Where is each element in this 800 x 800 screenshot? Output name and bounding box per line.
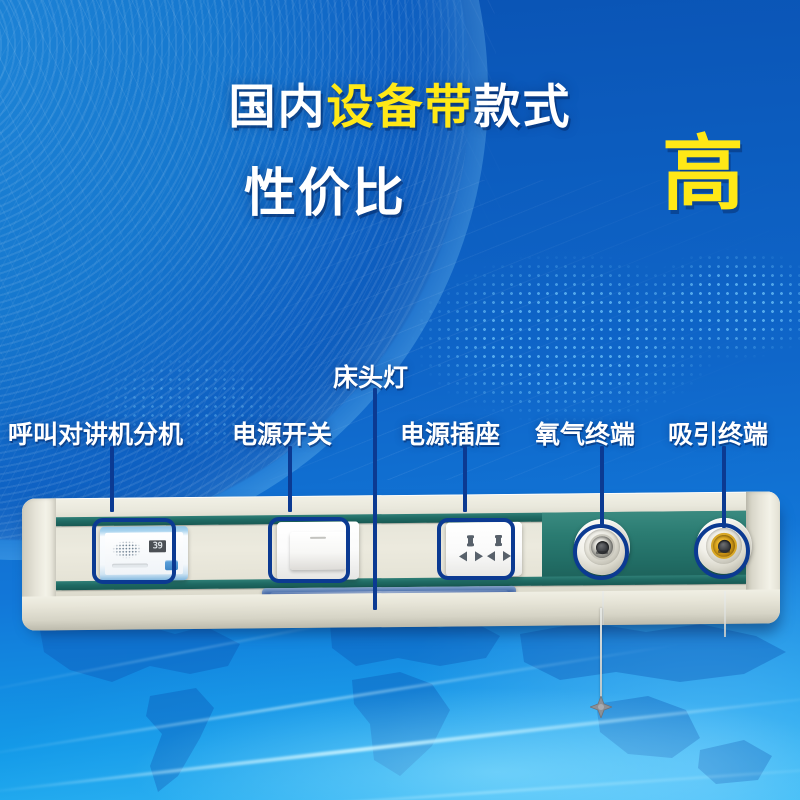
leader-line-oxygen — [600, 446, 604, 528]
callout-label-suction: 吸引终端 — [668, 415, 768, 451]
highlight-intercom — [92, 518, 176, 584]
highlight-oxygen — [573, 524, 629, 580]
highlight-switch — [268, 517, 350, 583]
highlight-socket — [437, 518, 515, 580]
leader-line-intercom — [110, 446, 114, 512]
callout-label-socket: 电源插座 — [400, 415, 500, 451]
callout-label-oxygen: 氧气终端 — [535, 415, 635, 451]
leader-line-bedlight — [373, 388, 377, 610]
callout-layer: 呼叫对讲机分机 电源开关 床头灯 电源插座 氧气终端 吸引终端 — [0, 0, 800, 800]
callout-label-intercom: 呼叫对讲机分机 — [8, 415, 183, 451]
leader-line-socket — [463, 446, 467, 512]
promo-banner: 国内设备带款式 性价比 高 呼叫对讲机分机 电源开关 床头灯 电源插座 氧气终端… — [0, 0, 800, 800]
leader-line-suction — [722, 446, 726, 528]
highlight-suction — [694, 523, 750, 579]
callout-label-switch: 电源开关 — [232, 415, 332, 451]
leader-line-switch — [288, 446, 292, 512]
callout-label-bedlight: 床头灯 — [333, 358, 408, 394]
